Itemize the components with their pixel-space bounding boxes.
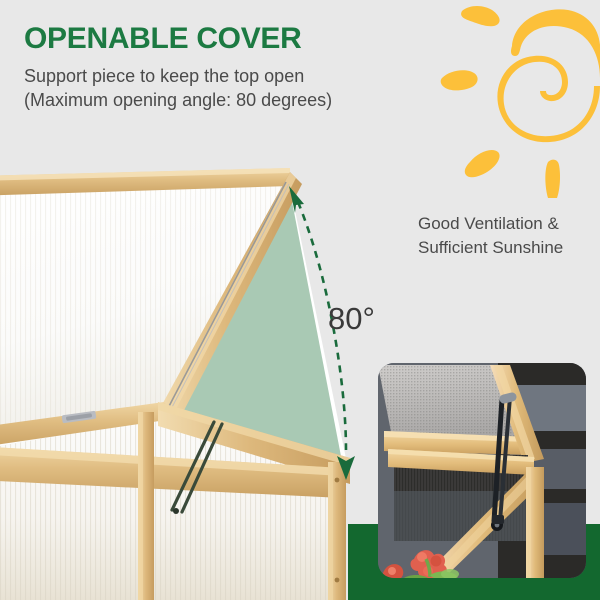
headline-block: OPENABLE COVER Support piece to keep the… (24, 22, 424, 112)
infographic-canvas: OPENABLE COVER Support piece to keep the… (0, 0, 600, 600)
sun-icon (440, 0, 600, 199)
inset-photo-illustration (378, 363, 586, 578)
angle-value-label: 80° (328, 303, 375, 334)
side-caption-line-1: Good Ventilation & (418, 212, 598, 236)
side-caption-line-2: Sufficient Sunshine (418, 236, 598, 260)
product-illustration (0, 150, 390, 600)
subtitle-line-1: Support piece to keep the top open (24, 64, 424, 88)
page-title: OPENABLE COVER (24, 22, 424, 55)
sun-doodle (440, 0, 600, 199)
side-caption-block: Good Ventilation & Sufficient Sunshine (418, 212, 598, 260)
cold-frame-diagram (0, 150, 390, 600)
subtitle-line-2: (Maximum opening angle: 80 degrees) (24, 88, 424, 112)
inset-detail-photo (378, 363, 586, 578)
